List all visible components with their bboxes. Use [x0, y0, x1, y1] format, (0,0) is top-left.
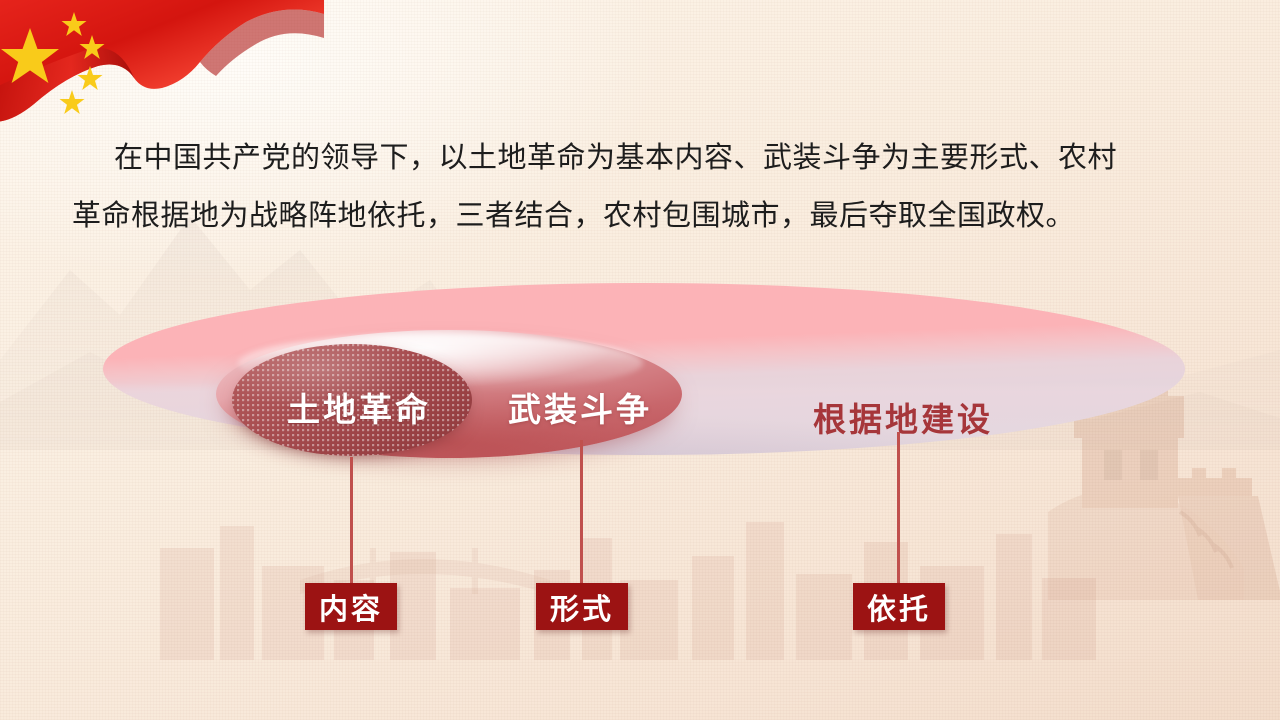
- callout-box-form[interactable]: 形式: [536, 583, 628, 630]
- connector-line-content: [350, 457, 353, 583]
- callout-box-content[interactable]: 内容: [305, 583, 397, 630]
- ellipse-label-land-revolution: 土地革命: [287, 383, 431, 431]
- ellipse-label-base-construction: 根据地建设: [813, 393, 993, 441]
- connector-line-support: [897, 432, 900, 583]
- paragraph-line-2: 革命根据地为战略阵地依托，三者结合，农村包围城市，最后夺取全国政权。: [58, 186, 1226, 244]
- paragraph-line-1: 在中国共产党的领导下，以土地革命为基本内容、武装斗争为主要形式、农村: [58, 128, 1226, 186]
- slide-canvas: 在中国共产党的领导下，以土地革命为基本内容、武装斗争为主要形式、农村 革命根据地…: [0, 0, 1280, 720]
- venn-ellipse-diagram: 土地革命 武装斗争 根据地建设: [0, 250, 1280, 510]
- china-flag: [0, 0, 324, 122]
- body-paragraph: 在中国共产党的领导下，以土地革命为基本内容、武装斗争为主要形式、农村 革命根据地…: [58, 128, 1226, 244]
- connector-line-form: [580, 440, 583, 583]
- ellipse-label-armed-struggle: 武装斗争: [508, 383, 652, 431]
- callout-box-support[interactable]: 依托: [853, 583, 945, 630]
